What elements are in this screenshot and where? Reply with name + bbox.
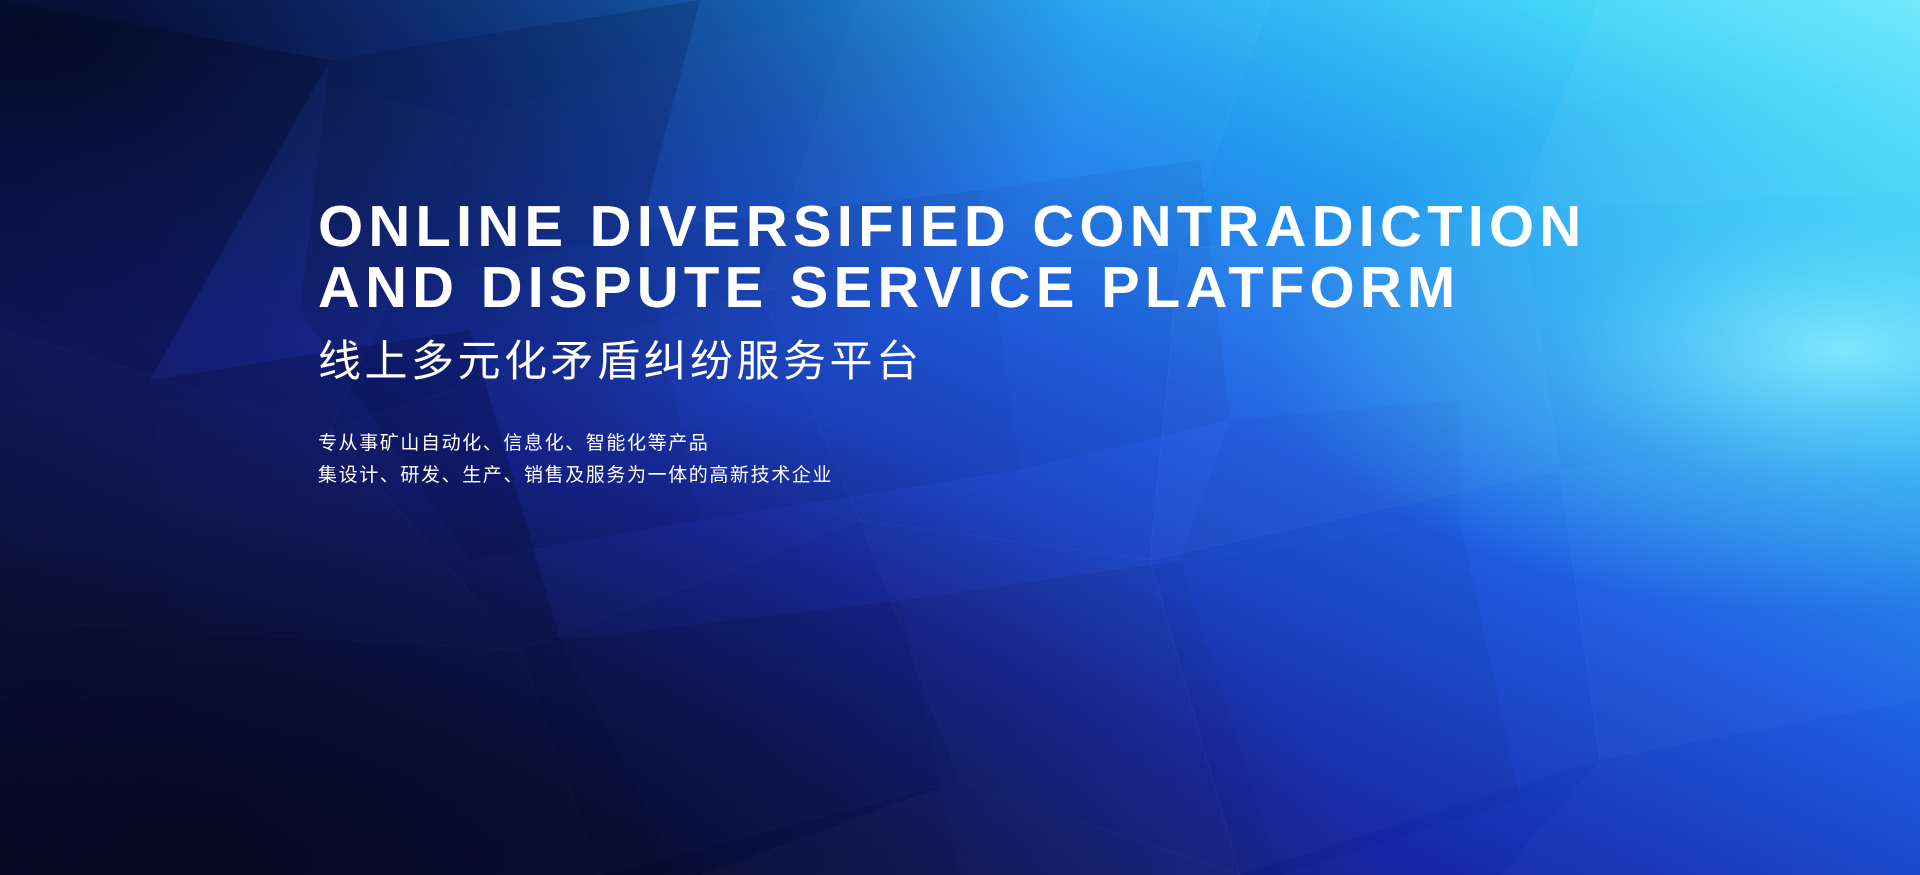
page-title: ONLINE DIVERSIFIED CONTRADICTION AND DIS…: [318, 196, 1718, 318]
description-text: 专从事矿山自动化、信息化、智能化等产品 集设计、研发、生产、销售及服务为一体的高…: [318, 428, 1718, 492]
description-line-2: 集设计、研发、生产、销售及服务为一体的高新技术企业: [318, 460, 1718, 492]
headline-line-1: ONLINE DIVERSIFIED CONTRADICTION: [318, 196, 1718, 257]
headline-line-2: AND DISPUTE SERVICE PLATFORM: [318, 257, 1718, 318]
description-line-1: 专从事矿山自动化、信息化、智能化等产品: [318, 428, 1718, 460]
page-subtitle: 线上多元化矛盾纠纷服务平台: [318, 338, 1718, 386]
hero-content: ONLINE DIVERSIFIED CONTRADICTION AND DIS…: [318, 196, 1718, 492]
hero-banner: ONLINE DIVERSIFIED CONTRADICTION AND DIS…: [0, 0, 1920, 875]
